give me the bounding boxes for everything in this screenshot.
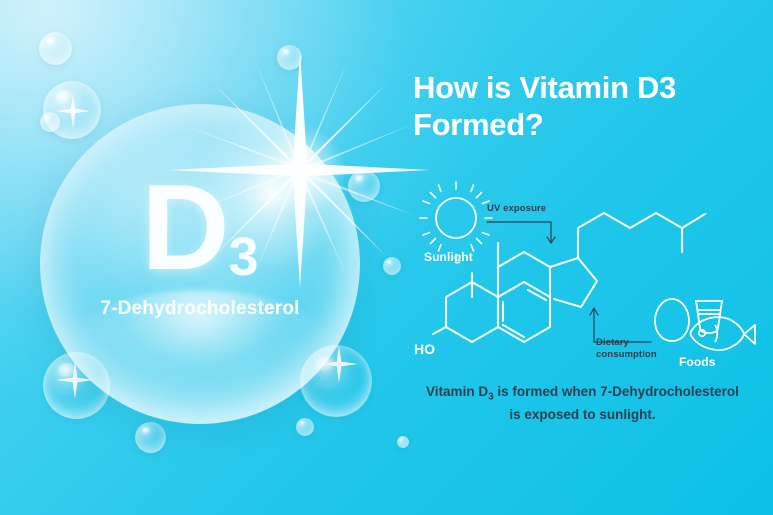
page-title-line-2: Formed? [413, 107, 763, 144]
sunlight-label: Sunlight [424, 250, 473, 264]
d3-subscript: 3 [229, 227, 259, 287]
fish-icon [691, 317, 756, 350]
egg-icon [655, 299, 689, 341]
background-bubble [39, 32, 72, 65]
uv-exposure-arrow [487, 222, 555, 243]
uv-exposure-label: UV exposure [487, 203, 546, 215]
dietary-consumption-label: Dietary consumption [596, 337, 657, 361]
milk-glass-icon [695, 301, 723, 333]
d3-wordmark: D3 [40, 166, 360, 288]
foods-label: Foods [679, 355, 716, 369]
caption-vitamin-d: Vitamin D [426, 384, 488, 399]
page-title: How is Vitamin D3 Formed? [413, 70, 763, 143]
page-title-line-1: How is Vitamin D3 [413, 70, 763, 107]
dietary-consumption-label-line-1: Dietary [596, 337, 657, 349]
hydroxyl-label: HO [414, 341, 435, 357]
d3-letter: D [141, 159, 228, 295]
bubble-compound-label: 7-Dehydrocholesterol [40, 298, 360, 320]
background-bubble [135, 422, 166, 453]
background-bubble [277, 45, 302, 70]
vitamin-d3-bubble: D3 7-Dehydrocholesterol [40, 104, 360, 424]
caption-line-1: Vitamin D3 is formed when 7-Dehydrochole… [405, 382, 760, 405]
dietary-consumption-label-line-2: consumption [596, 349, 657, 361]
background-bubble [383, 257, 401, 275]
caption-line-1-rest: is formed when 7-Dehydrocholesterol [494, 384, 739, 399]
background-bubble [397, 436, 409, 448]
background-bubble [40, 112, 60, 132]
caption-line-2: is exposed to sunlight. [405, 405, 760, 425]
infographic-canvas: D3 7-Dehydrocholesterol [0, 0, 773, 515]
background-bubble [296, 418, 314, 436]
caption-text: Vitamin D3 is formed when 7-Dehydrochole… [405, 382, 760, 425]
